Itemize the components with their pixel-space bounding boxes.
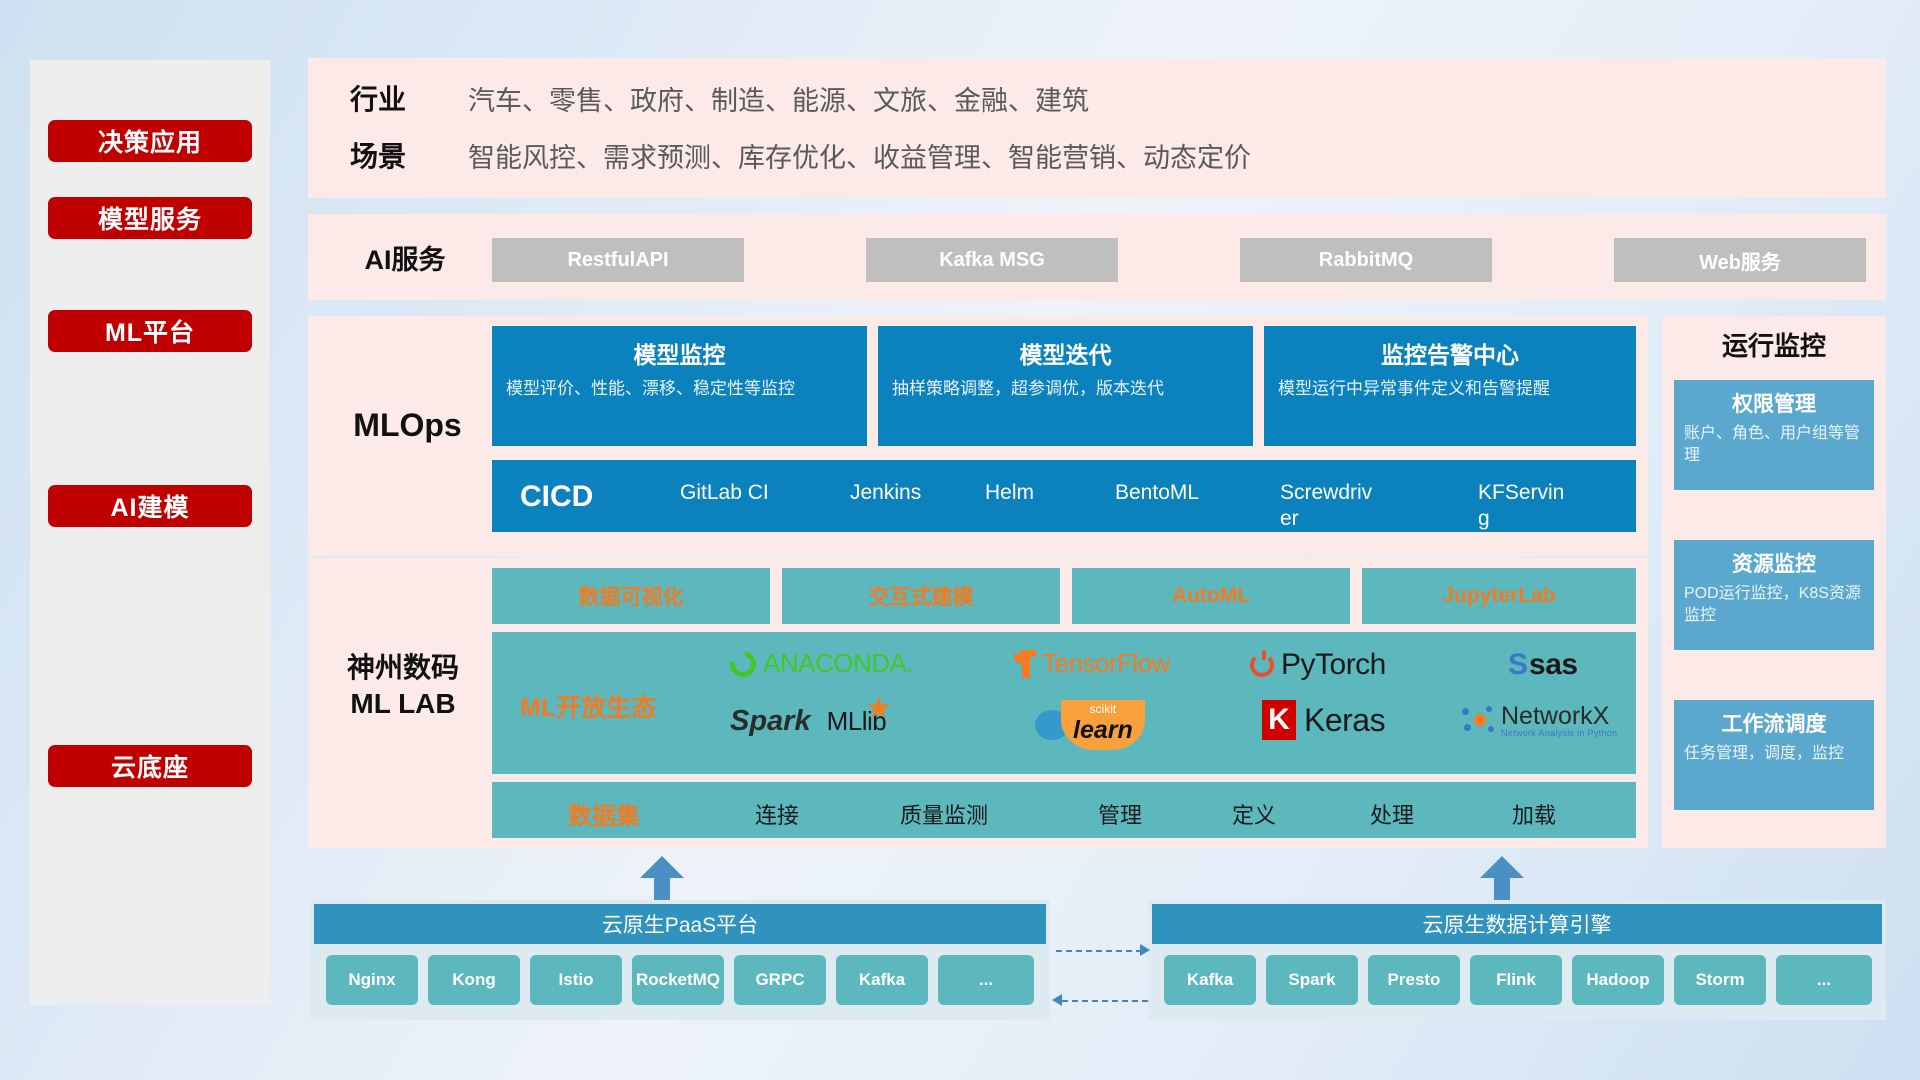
ml-lab-label-line1: 神州数码: [318, 650, 488, 686]
paas-to-engine-arrow: [1056, 950, 1142, 952]
sas-icon: S: [1508, 648, 1528, 682]
cicd-item-kfserving[interactable]: KFServing: [1478, 480, 1574, 533]
cicd-item-helm[interactable]: Helm: [985, 480, 1081, 506]
ai-service-label: AI服务: [330, 236, 480, 278]
dataset-label: 数据集: [568, 796, 640, 831]
networkx-icon: [1462, 706, 1496, 736]
dataset-box: [492, 782, 1636, 838]
dataset-item-process[interactable]: 处理: [1370, 798, 1414, 830]
tensorflow-logo-text: TensorFlow: [1042, 648, 1170, 679]
layer-rail: 决策应用 模型服务 ML平台 AI建模 云底座: [30, 60, 270, 1005]
cicd-item-gitlab-ci[interactable]: GitLab CI: [680, 480, 776, 506]
paas-chip-nginx[interactable]: Nginx: [326, 955, 418, 1005]
monitoring-title: 运行监控: [1662, 326, 1886, 363]
ml-ecosystem-label: ML开放生态: [520, 688, 656, 724]
engine-chip-kafka[interactable]: Kafka: [1164, 955, 1256, 1005]
engine-chip-presto[interactable]: Presto: [1368, 955, 1460, 1005]
pytorch-logo: PyTorch: [1250, 648, 1386, 682]
tensorflow-logo: TensorFlow: [1010, 648, 1170, 679]
sidebar-item-cloud-base[interactable]: 云底座: [48, 745, 252, 787]
sidebar-item-ai-modeling[interactable]: AI建模: [48, 485, 252, 527]
sidebar-item-decision[interactable]: 决策应用: [48, 120, 252, 162]
ml-lab-label-line2: ML LAB: [318, 686, 488, 722]
ml-lab-label: 神州数码 ML LAB: [318, 650, 488, 723]
mlops-card-model-monitoring[interactable]: 模型监控 模型评价、性能、漂移、稳定性等监控: [492, 326, 867, 446]
tensorflow-icon: [1010, 650, 1036, 678]
anaconda-logo-text: ANACONDA.: [763, 648, 913, 679]
paas-chip-grpc[interactable]: GRPC: [734, 955, 826, 1005]
monitoring-card-resources[interactable]: 资源监控 POD运行监控，K8S资源监控: [1674, 540, 1874, 650]
mlops-card-alert-center[interactable]: 监控告警中心 模型运行中异常事件定义和告警提醒: [1264, 326, 1636, 446]
industry-row: 行业 汽车、零售、政府、制造、能源、文旅、金融、建筑: [350, 78, 1089, 118]
ai-chip-kafka-msg[interactable]: Kafka MSG: [866, 238, 1118, 282]
card-desc: 账户、角色、用户组等管理: [1684, 423, 1864, 466]
industry-label: 行业: [350, 78, 468, 118]
paas-chip-kafka[interactable]: Kafka: [836, 955, 928, 1005]
dataset-item-connect[interactable]: 连接: [755, 798, 799, 830]
engine-to-paas-arrow: [1062, 1000, 1148, 1002]
card-title: 权限管理: [1684, 388, 1864, 418]
mlops-card-model-iteration[interactable]: 模型迭代 抽样策略调整，超参调优，版本迭代: [878, 326, 1253, 446]
monitoring-card-workflow[interactable]: 工作流调度 任务管理，调度，监控: [1674, 700, 1874, 810]
cicd-item-bentoml[interactable]: BentoML: [1115, 480, 1211, 506]
industry-values: 汽车、零售、政府、制造、能源、文旅、金融、建筑: [468, 79, 1089, 118]
scikit-learn-logo: scikit learn: [1035, 700, 1145, 750]
cicd-item-jenkins[interactable]: Jenkins: [850, 480, 946, 506]
sidebar-item-model-service[interactable]: 模型服务: [48, 197, 252, 239]
card-desc: 抽样策略调整，超参调优，版本迭代: [892, 378, 1239, 401]
mlops-label: MLOps: [325, 400, 490, 450]
spark-star-icon: ★: [865, 691, 892, 726]
paas-chip-kong[interactable]: Kong: [428, 955, 520, 1005]
tool-jupyterlab[interactable]: JupyterLab: [1362, 568, 1636, 624]
tool-data-visualization[interactable]: 数据可视化: [492, 568, 770, 624]
pytorch-logo-text: PyTorch: [1281, 648, 1386, 682]
networkx-logo-text: NetworkX Network Analysis in Python: [1501, 704, 1617, 738]
keras-logo-text: Keras: [1304, 702, 1385, 739]
keras-logo: K Keras: [1262, 700, 1385, 740]
scikit-learn-logo-text: scikit learn: [1061, 700, 1145, 750]
monitoring-card-permissions[interactable]: 权限管理 账户、角色、用户组等管理: [1674, 380, 1874, 490]
card-title: 监控告警中心: [1278, 336, 1622, 370]
spark-logo-text: Spark: [730, 705, 811, 738]
card-title: 资源监控: [1684, 548, 1864, 578]
anaconda-logo: ANACONDA.: [730, 648, 913, 679]
tool-interactive-modeling[interactable]: 交互式建模: [782, 568, 1060, 624]
engine-chip-spark[interactable]: Spark: [1266, 955, 1358, 1005]
engine-chip-flink[interactable]: Flink: [1470, 955, 1562, 1005]
cicd-item-screwdriver[interactable]: Screwdriver: [1280, 480, 1376, 533]
scenario-row: 场景 智能风控、需求预测、库存优化、收益管理、智能营销、动态定价: [350, 135, 1251, 175]
engine-to-paas-arrowhead: [1052, 994, 1062, 1006]
sas-logo-text: sas: [1529, 648, 1578, 682]
dataset-item-manage[interactable]: 管理: [1098, 798, 1142, 830]
engine-title: 云原生数据计算引擎: [1152, 904, 1882, 944]
card-desc: POD运行监控，K8S资源监控: [1684, 583, 1864, 626]
diagram-canvas: 决策应用 模型服务 ML平台 AI建模 云底座 行业 汽车、零售、政府、制造、能…: [0, 0, 1920, 1080]
scenario-values: 智能风控、需求预测、库存优化、收益管理、智能营销、动态定价: [468, 136, 1251, 175]
anaconda-icon: [725, 645, 761, 681]
engine-chip-more[interactable]: ...: [1776, 955, 1872, 1005]
card-title: 模型迭代: [892, 336, 1239, 370]
dataset-item-define[interactable]: 定义: [1232, 798, 1276, 830]
card-desc: 模型评价、性能、漂移、稳定性等监控: [506, 378, 853, 401]
tool-automl[interactable]: AutoML: [1072, 568, 1350, 624]
ai-chip-rabbitmq[interactable]: RabbitMQ: [1240, 238, 1492, 282]
networkx-logo: NetworkX Network Analysis in Python: [1462, 704, 1617, 738]
card-desc: 模型运行中异常事件定义和告警提醒: [1278, 378, 1622, 401]
spark-mllib-logo: Spark ★ MLlib: [730, 705, 886, 738]
ai-chip-web-service[interactable]: Web服务: [1614, 238, 1866, 282]
ai-chip-restfulapi[interactable]: RestfulAPI: [492, 238, 744, 282]
engine-chip-storm[interactable]: Storm: [1674, 955, 1766, 1005]
keras-icon: K: [1262, 700, 1296, 740]
paas-chip-more[interactable]: ...: [938, 955, 1034, 1005]
dataset-item-load[interactable]: 加载: [1512, 798, 1556, 830]
sas-logo: S sas: [1508, 648, 1578, 682]
card-desc: 任务管理，调度，监控: [1684, 743, 1864, 765]
pytorch-icon: [1250, 653, 1274, 677]
dataset-item-quality-monitoring[interactable]: 质量监测: [900, 798, 988, 830]
card-title: 模型监控: [506, 336, 853, 370]
cicd-title: CICD: [520, 480, 593, 514]
paas-title: 云原生PaaS平台: [314, 904, 1046, 944]
scenario-label: 场景: [350, 135, 468, 175]
sidebar-item-ml-platform[interactable]: ML平台: [48, 310, 252, 352]
engine-chip-hadoop[interactable]: Hadoop: [1572, 955, 1664, 1005]
paas-to-engine-arrowhead: [1140, 944, 1150, 956]
paas-chip-istio[interactable]: Istio: [530, 955, 622, 1005]
paas-chip-rocketmq[interactable]: RocketMQ: [632, 955, 724, 1005]
card-title: 工作流调度: [1684, 708, 1864, 738]
